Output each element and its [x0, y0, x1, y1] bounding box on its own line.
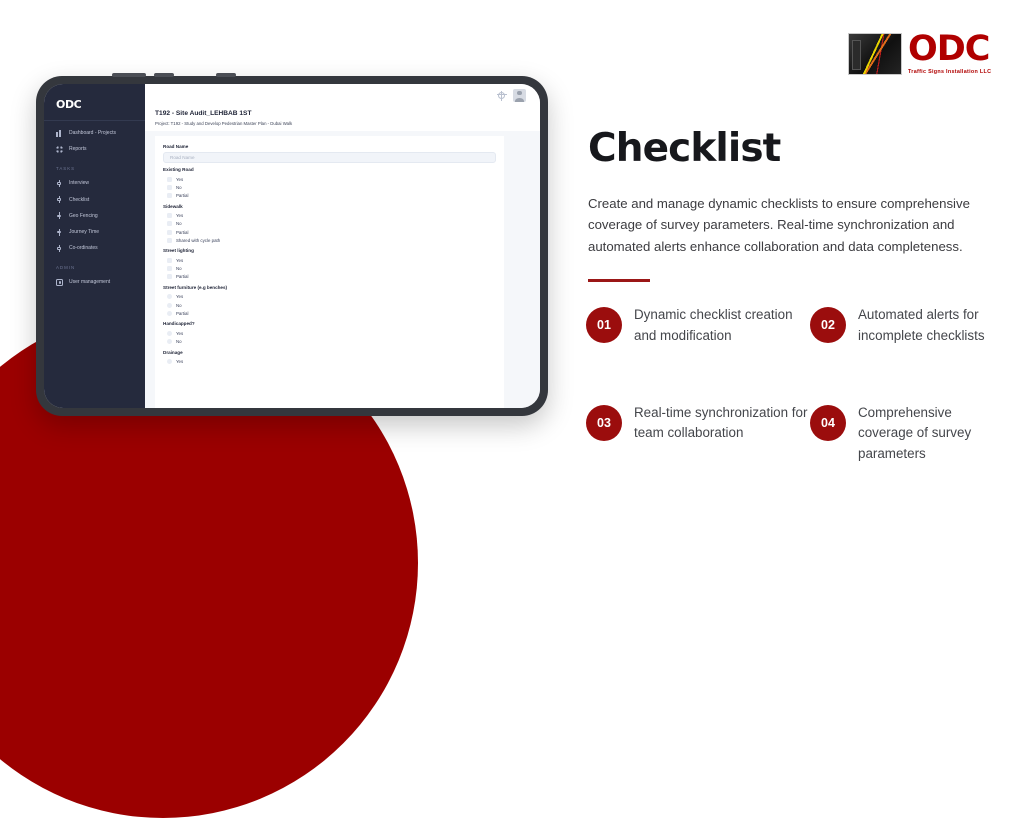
- sidebar-item-label: Reports: [69, 146, 87, 152]
- checkbox-icon[interactable]: [167, 303, 172, 308]
- feature-number-badge: 04: [810, 405, 846, 441]
- option-label: Yes: [176, 258, 183, 263]
- form-scroll-area[interactable]: Road Name Road Name Existing Road Yes No: [145, 131, 540, 408]
- checkbox-icon[interactable]: [167, 238, 172, 243]
- document-header: T192 - Site Audit_LEHBAB 1ST Project: T1…: [145, 106, 540, 131]
- feature-text: Dynamic checklist creation and modificat…: [634, 305, 810, 347]
- checkbox-icon[interactable]: [167, 221, 172, 226]
- field-label-street-lighting: Street lighting: [163, 248, 496, 253]
- tablet-button-icon: [154, 73, 174, 77]
- sidebar-item-geo-fencing[interactable]: Geo Fencing: [44, 208, 145, 224]
- sidebar-item-dashboard-projects[interactable]: Dashboard - Projects: [44, 125, 145, 141]
- option-label: Partial: [176, 230, 188, 235]
- sidebar-section-tasks: TASKS: [44, 157, 145, 175]
- checkbox-icon[interactable]: [167, 294, 172, 299]
- task-icon: [56, 212, 63, 219]
- checkbox-icon[interactable]: [167, 331, 172, 336]
- checkbox-icon[interactable]: [167, 193, 172, 198]
- feature-item-01: 01 Dynamic checklist creation and modifi…: [586, 305, 810, 347]
- option-row[interactable]: No: [163, 220, 496, 228]
- feature-item-03: 03 Real-time synchronization for team co…: [586, 403, 810, 465]
- checkbox-icon[interactable]: [167, 266, 172, 271]
- dashboard-icon: [56, 130, 63, 137]
- app-topbar: [145, 84, 540, 106]
- checkbox-icon[interactable]: [167, 185, 172, 190]
- task-icon: [56, 229, 63, 236]
- option-label: Shared with cycle path: [176, 238, 220, 243]
- avatar[interactable]: [513, 89, 526, 102]
- option-label: No: [176, 221, 182, 226]
- field-label-street-furniture: Street furniture (e.g benches): [163, 285, 496, 290]
- sidebar-item-journey-time[interactable]: Journey Time: [44, 224, 145, 240]
- sidebar-item-label: Checklist: [69, 197, 89, 203]
- checkbox-icon[interactable]: [167, 177, 172, 182]
- feature-number-badge: 03: [586, 405, 622, 441]
- logo-tagline: Traffic Signs Installation LLC: [908, 69, 991, 75]
- option-row[interactable]: Partial: [163, 228, 496, 236]
- sidebar-item-label: User management: [69, 279, 110, 285]
- field-label-handicapped: Handicapped?: [163, 321, 496, 326]
- sidebar-item-user-management[interactable]: User management: [44, 274, 145, 290]
- option-row[interactable]: Partial: [163, 273, 496, 281]
- option-row[interactable]: No: [163, 183, 496, 191]
- option-row[interactable]: Yes: [163, 175, 496, 183]
- feature-text: Comprehensive coverage of survey paramet…: [858, 403, 998, 465]
- gear-icon[interactable]: [498, 92, 505, 99]
- option-label: No: [176, 185, 182, 190]
- sidebar-item-label: Co-ordinates: [69, 245, 98, 251]
- logo-text: ODC: [908, 32, 991, 67]
- option-row[interactable]: No: [163, 265, 496, 273]
- tablet-button-icon: [216, 73, 236, 77]
- sidebar-item-label: Journey Time: [69, 229, 99, 235]
- option-label: Partial: [176, 193, 188, 198]
- checkbox-icon[interactable]: [167, 230, 172, 235]
- checkbox-icon[interactable]: [167, 339, 172, 344]
- sidebar-item-checklist[interactable]: Checklist: [44, 192, 145, 208]
- checkbox-icon[interactable]: [167, 213, 172, 218]
- option-label: Yes: [176, 359, 183, 364]
- logo-mark: ODC Traffic Signs Installation LLC: [908, 32, 991, 75]
- right-panel: Checklist Create and manage dynamic chec…: [588, 126, 988, 282]
- option-row[interactable]: Yes: [163, 358, 496, 366]
- option-label: Yes: [176, 294, 183, 299]
- field-label-road-name: Road Name: [163, 144, 496, 149]
- option-label: Yes: [176, 177, 183, 182]
- app-main: T192 - Site Audit_LEHBAB 1ST Project: T1…: [145, 84, 540, 408]
- option-row[interactable]: Yes: [163, 293, 496, 301]
- option-label: No: [176, 339, 182, 344]
- option-row[interactable]: Yes: [163, 329, 496, 337]
- checkbox-icon[interactable]: [167, 311, 172, 316]
- option-row[interactable]: Partial: [163, 309, 496, 317]
- sidebar-item-label: Geo Fencing: [69, 213, 98, 219]
- option-row[interactable]: Yes: [163, 212, 496, 220]
- task-icon: [56, 245, 63, 252]
- checkbox-icon[interactable]: [167, 274, 172, 279]
- tablet-button-icon: [112, 73, 146, 77]
- panel-paragraph: Create and manage dynamic checklists to …: [588, 193, 980, 257]
- sidebar-item-label: Dashboard - Projects: [69, 130, 116, 136]
- option-label: Partial: [176, 311, 188, 316]
- option-row[interactable]: No: [163, 301, 496, 309]
- app-sidebar: ODC Dashboard - Projects Reports TASKS I…: [44, 84, 145, 408]
- brand-logo: ODC Traffic Signs Installation LLC: [848, 32, 991, 75]
- page-title: T192 - Site Audit_LEHBAB 1ST: [155, 110, 540, 117]
- option-row[interactable]: No: [163, 338, 496, 346]
- feature-item-02: 02 Automated alerts for incomplete check…: [810, 305, 998, 347]
- project-subtitle: Project: T192 - Study and Develop Pedest…: [155, 121, 540, 126]
- reports-icon: [56, 146, 63, 153]
- checkbox-icon[interactable]: [167, 258, 172, 263]
- option-label: No: [176, 303, 182, 308]
- checklist-form: Road Name Road Name Existing Road Yes No: [155, 136, 504, 408]
- sidebar-item-interview[interactable]: Interview: [44, 175, 145, 191]
- road-name-input[interactable]: Road Name: [163, 152, 496, 163]
- option-label: Partial: [176, 274, 188, 279]
- option-row[interactable]: Partial: [163, 191, 496, 199]
- feature-text: Automated alerts for incomplete checklis…: [858, 305, 998, 347]
- field-label-existing-road: Existing Road: [163, 167, 496, 172]
- road-photo-icon: [848, 33, 902, 75]
- sidebar-item-label: Interview: [69, 180, 89, 186]
- feature-number-badge: 01: [586, 307, 622, 343]
- page-headline: Checklist: [588, 126, 988, 171]
- feature-item-04: 04 Comprehensive coverage of survey para…: [810, 403, 998, 465]
- option-label: Yes: [176, 213, 183, 218]
- task-icon: [56, 180, 63, 187]
- feature-grid: 01 Dynamic checklist creation and modifi…: [586, 305, 998, 465]
- sidebar-item-reports[interactable]: Reports: [44, 141, 145, 157]
- option-label: No: [176, 266, 182, 271]
- task-icon: [56, 196, 63, 203]
- field-label-drainage: Drainage: [163, 350, 496, 355]
- field-label-sidewalk: Sidewalk: [163, 204, 496, 209]
- checkbox-icon[interactable]: [167, 359, 172, 364]
- tablet-device-mockup: ODC Dashboard - Projects Reports TASKS I…: [36, 76, 548, 416]
- sidebar-item-co-ordinates[interactable]: Co-ordinates: [44, 240, 145, 256]
- option-row[interactable]: Shared with cycle path: [163, 236, 496, 244]
- option-label: Yes: [176, 331, 183, 336]
- user-icon: [56, 279, 63, 286]
- feature-number-badge: 02: [810, 307, 846, 343]
- sidebar-logo: ODC: [44, 94, 145, 121]
- accent-divider: [588, 279, 650, 282]
- option-row[interactable]: Yes: [163, 256, 496, 264]
- sidebar-section-admin: ADMIN: [44, 256, 145, 274]
- tablet-screen: ODC Dashboard - Projects Reports TASKS I…: [44, 84, 540, 408]
- feature-text: Real-time synchronization for team colla…: [634, 403, 810, 445]
